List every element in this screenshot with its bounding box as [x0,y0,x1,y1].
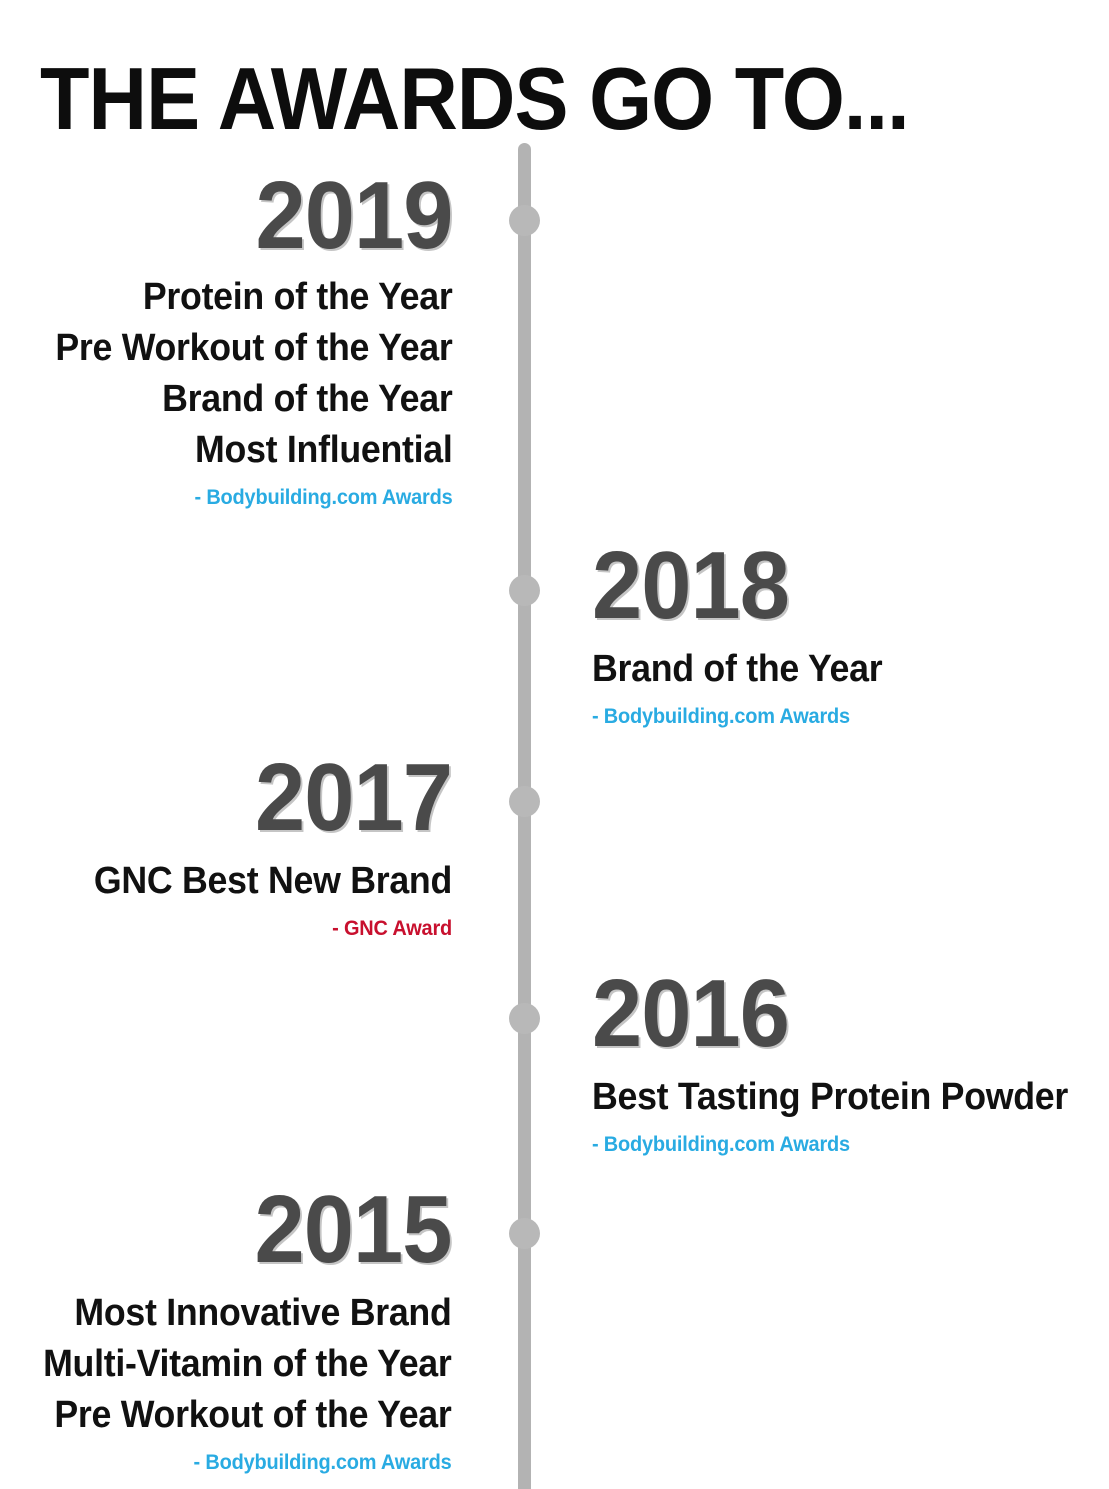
timeline-entry-2018: 2018 Brand of the Year - Bodybuilding.co… [592,538,901,730]
entry-year-2017: 2017 [94,750,452,846]
award-item: Protein of the Year [55,272,452,323]
entry-source-2017: - GNC Award [90,916,452,942]
award-item: Most Influential [55,425,452,476]
entry-source-2018: - Bodybuilding.com Awards [592,704,885,730]
entry-source-2016: - Bodybuilding.com Awards [592,1132,1073,1158]
entry-source-2019: - Bodybuilding.com Awards [51,485,452,511]
award-item: Brand of the Year [592,644,882,695]
timeline-dot-2018 [509,575,540,606]
award-item: Pre Workout of the Year [44,1390,452,1441]
award-item: Most Innovative Brand [44,1288,452,1339]
entry-year-2019: 2019 [55,168,452,264]
award-list-2015: Most Innovative Brand Multi-Vitamin of t… [17,1288,452,1441]
award-list-2019: Protein of the Year Pre Workout of the Y… [30,272,452,476]
awards-timeline-infographic: THE AWARDS GO TO... 2019 Protein of the … [0,0,1109,1489]
award-item: Pre Workout of the Year [55,323,452,374]
award-item: Multi-Vitamin of the Year [44,1339,452,1390]
timeline-entry-2019: 2019 Protein of the Year Pre Workout of … [30,168,452,511]
award-item: Brand of the Year [55,374,452,425]
entry-year-2016: 2016 [592,966,1068,1062]
entry-year-2018: 2018 [592,538,882,634]
award-list-2018: Brand of the Year [592,644,901,695]
award-list-2016: Best Tasting Protein Powder [592,1072,1098,1123]
timeline-dot-2017 [509,786,540,817]
timeline-dot-2019 [509,205,540,236]
timeline-entry-2015: 2015 Most Innovative Brand Multi-Vitamin… [17,1182,452,1476]
entry-source-2015: - Bodybuilding.com Awards [39,1450,452,1476]
timeline-entry-2017: 2017 GNC Best New Brand - GNC Award [71,750,452,942]
timeline-dot-2016 [509,1003,540,1034]
award-item: GNC Best New Brand [94,856,452,907]
award-item: Best Tasting Protein Powder [592,1072,1068,1123]
timeline-entry-2016: 2016 Best Tasting Protein Powder - Bodyb… [592,966,1098,1158]
timeline-dot-2015 [509,1218,540,1249]
award-list-2017: GNC Best New Brand [71,856,452,907]
entry-year-2015: 2015 [44,1182,452,1278]
page-title: THE AWARDS GO TO... [40,51,909,147]
